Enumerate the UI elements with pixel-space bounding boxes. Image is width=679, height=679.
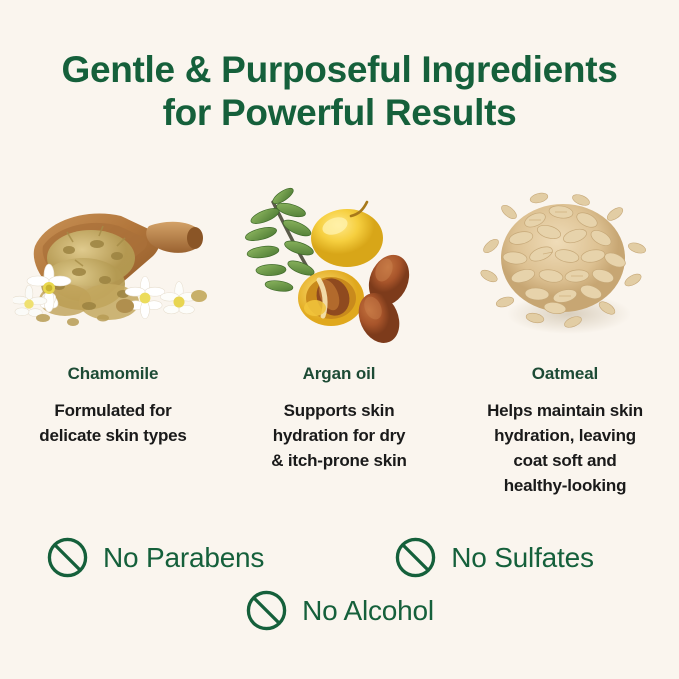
claim-label: No Alcohol [302,595,434,627]
ingredient-desc-line-2: delicate skin types [39,426,186,445]
claim-label: No Parabens [103,542,264,574]
page-title: Gentle & Purposeful Ingredients for Powe… [0,48,679,134]
ingredients-infographic: Gentle & Purposeful Ingredients for Powe… [0,0,679,679]
no-symbol-icon [394,536,437,579]
claim-no-alcohol: No Alcohol [245,589,434,632]
ingredient-desc-line-1: Supports skin [284,401,395,420]
chamomile-scoop-illustration [13,176,213,354]
ingredient-description: Supports skin hydration for dry & itch-p… [237,398,442,473]
claim-label: No Sulfates [451,542,594,574]
claims-row-bottom: No Alcohol [0,579,679,632]
ingredient-card-chamomile: Chamomile Formulated for delicate skin t… [0,176,226,448]
page-title-line-1: Gentle & Purposeful Ingredients [0,48,679,91]
no-symbol-icon [46,536,89,579]
ingredient-desc-line-2: hydration for dry [273,426,406,445]
ingredient-description: Formulated for delicate skin types [11,398,216,448]
ingredient-name: Oatmeal [532,364,598,384]
page-title-line-2: for Powerful Results [0,91,679,134]
ingredient-desc-line-1: Helps maintain skin [487,401,643,420]
ingredient-desc-line-2: hydration, leaving [494,426,636,445]
ingredient-description: Helps maintain skin hydration, leaving c… [463,398,668,498]
ingredient-desc-line-1: Formulated for [54,401,171,420]
claim-no-sulfates: No Sulfates [394,536,594,579]
claims-section: No Parabens No Sulfates No Alcohol [0,536,679,632]
oatmeal-flakes-illustration [465,176,665,354]
no-symbol-icon [245,589,288,632]
ingredient-desc-line-4: healthy-looking [504,476,627,495]
argan-fruit-nuts-illustration [239,176,439,354]
ingredient-desc-line-3: & itch-prone skin [271,451,406,470]
claim-no-parabens: No Parabens [46,536,264,579]
ingredient-desc-line-3: coat soft and [513,451,616,470]
ingredient-name: Argan oil [303,364,376,384]
ingredient-columns: Chamomile Formulated for delicate skin t… [0,176,679,498]
ingredient-name: Chamomile [68,364,159,384]
ingredient-card-oatmeal: Oatmeal Helps maintain skin hydration, l… [452,176,678,498]
ingredient-card-argan-oil: Argan oil Supports skin hydration for dr… [226,176,452,473]
claims-row-top: No Parabens No Sulfates [0,536,679,579]
